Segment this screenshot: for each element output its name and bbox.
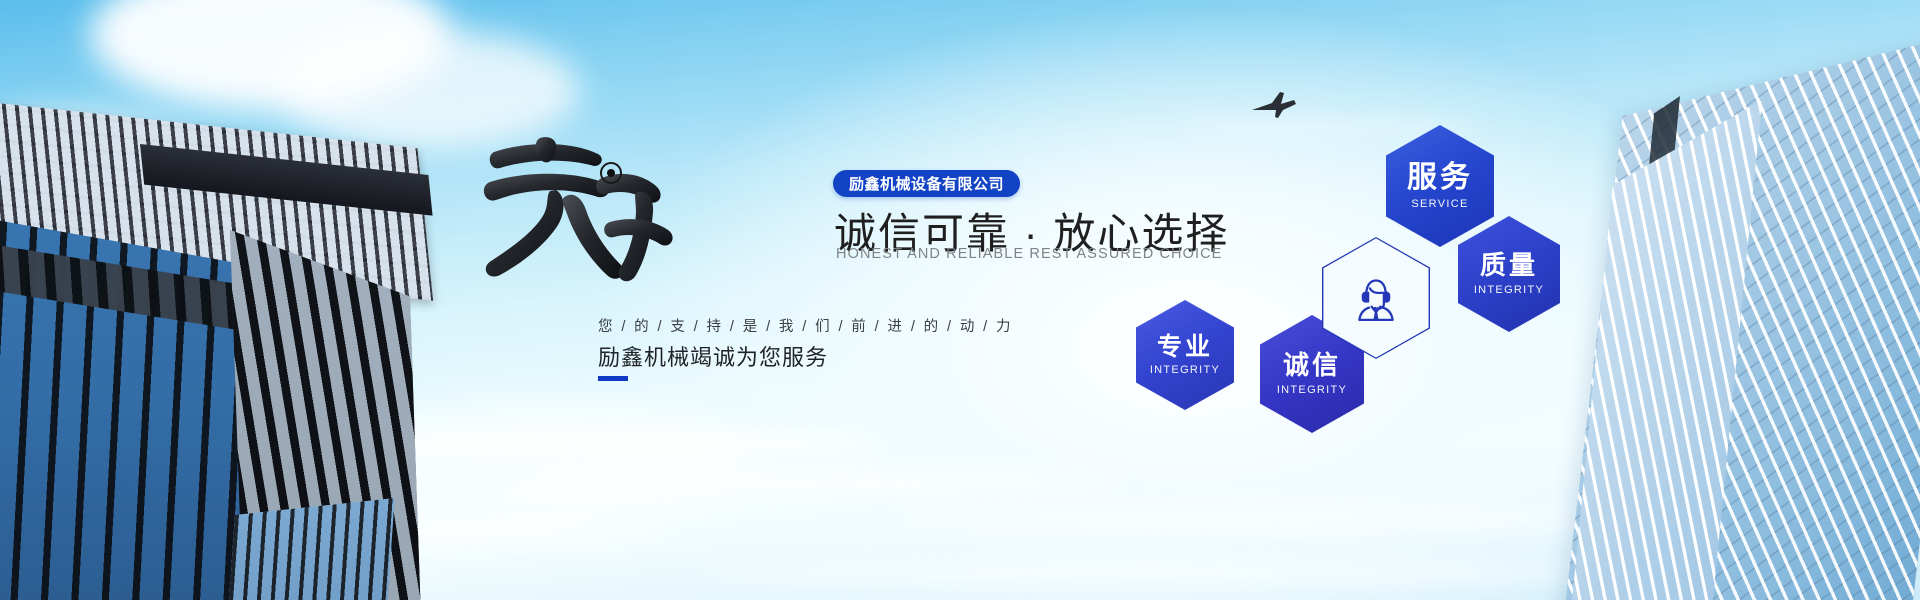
company-name-badge: 励鑫机械设备有限公司: [833, 170, 1020, 197]
support-tagline: 您 / 的 / 支 / 持 / 是 / 我 / 们 / 前 / 进 / 的 / …: [598, 315, 1013, 336]
service-tagline: 励鑫机械竭诚为您服务: [598, 340, 828, 372]
hex-customer-service[interactable]: [1322, 237, 1430, 359]
right-skyscraper-photo: [1590, 30, 1920, 600]
left-skyscraper-photo: [0, 60, 410, 600]
hex-quality-label-cn: 质量: [1480, 252, 1538, 279]
headset-agent-icon: [1348, 270, 1404, 326]
cloud-decoration: [700, 560, 1600, 586]
hex-service-label-cn: 服务: [1407, 162, 1473, 194]
hex-quality[interactable]: 质量 INTEGRITY: [1458, 216, 1560, 332]
company-banner: 励鑫机械设备有限公司 诚信可靠 · 放心选择 HONEST AND RELIAB…: [0, 0, 1920, 600]
target-dot-icon: [600, 162, 622, 184]
hex-service-label-en: SERVICE: [1411, 198, 1468, 210]
hex-professional-label-cn: 专业: [1157, 334, 1213, 360]
hex-professional[interactable]: 专业 INTEGRITY: [1136, 300, 1234, 410]
hex-quality-label-en: INTEGRITY: [1474, 284, 1544, 296]
slogan-english: HONEST AND RELIABLE REST ASSURED CHOICE: [836, 246, 1222, 262]
airplane-icon: [1250, 90, 1298, 120]
cloud-decoration: [900, 505, 1600, 533]
hero-word-shili: [470, 130, 700, 290]
cloud-decoration: [520, 470, 1120, 492]
hex-integrity-label-en: INTEGRITY: [1277, 384, 1347, 396]
accent-underline: [598, 376, 628, 381]
hex-service[interactable]: 服务 SERVICE: [1386, 125, 1494, 247]
hex-professional-label-en: INTEGRITY: [1150, 364, 1220, 376]
cloud-decoration: [360, 430, 880, 456]
